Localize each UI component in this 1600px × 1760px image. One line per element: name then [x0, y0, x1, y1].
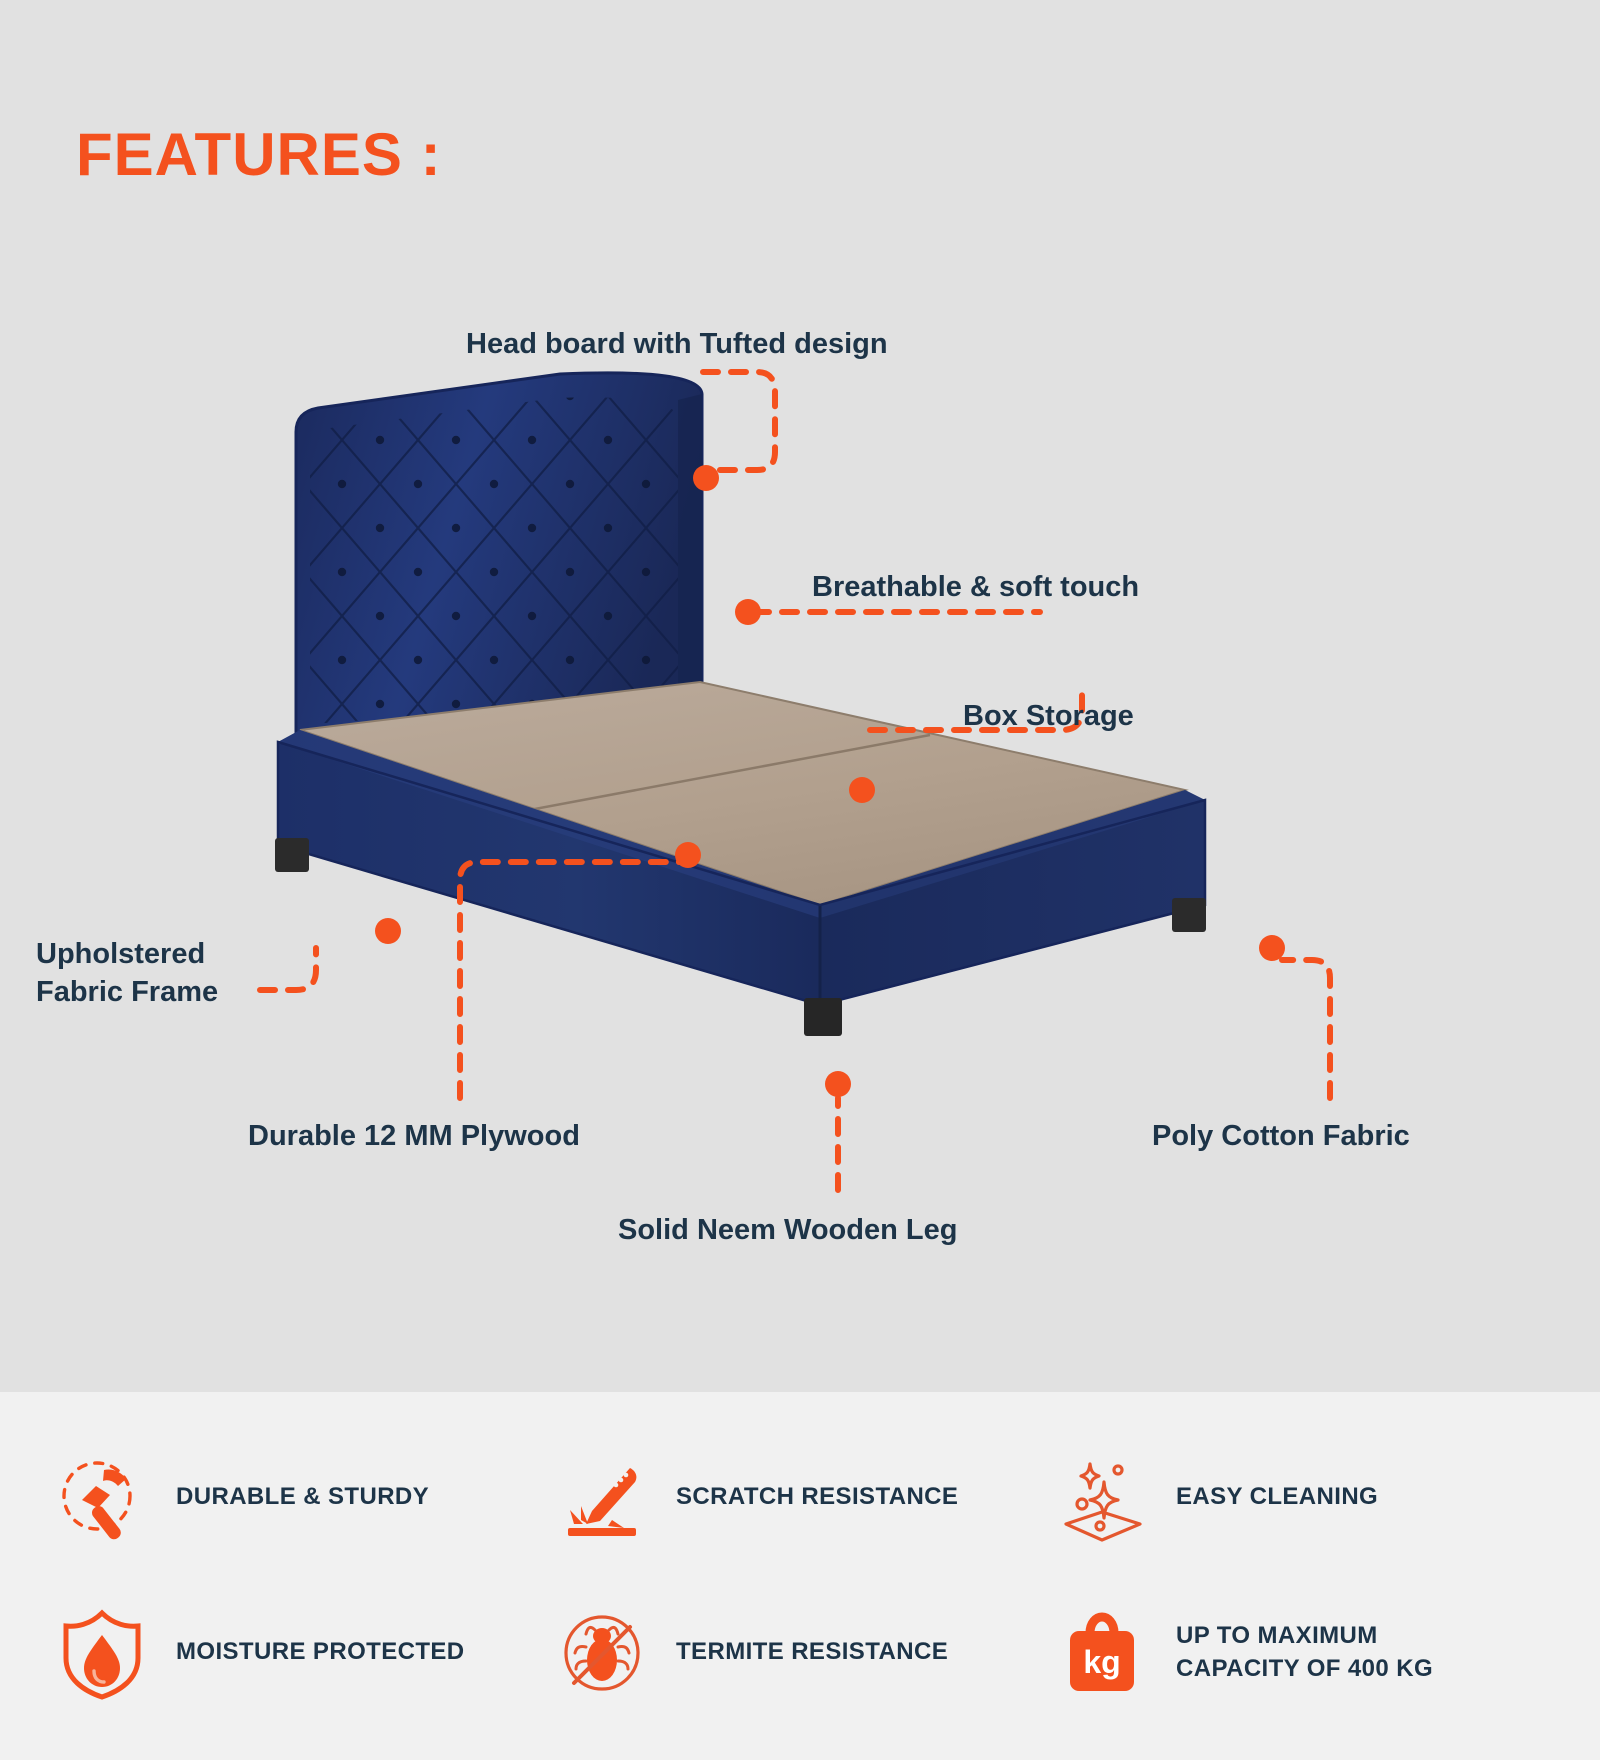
feature-label-moisture: MOISTURE PROTECTED — [176, 1636, 465, 1668]
callout-label-upholstery: Upholstered Fabric Frame — [36, 935, 218, 1012]
feature-item-durable: DURABLE & STURDY — [50, 1446, 550, 1550]
feature-strip: DURABLE & STURDY — [0, 1392, 1600, 1760]
kg-unit-text: kg — [1083, 1644, 1120, 1680]
shield-droplet-icon — [50, 1601, 154, 1705]
sparkle-surface-icon — [1050, 1446, 1154, 1550]
callout-label-headboard: Head board with Tufted design — [466, 325, 888, 363]
hero-panel: FEATURES : — [0, 0, 1600, 1392]
knife-scratch-icon — [550, 1446, 654, 1550]
feature-infographic: FEATURES : — [0, 0, 1600, 1760]
callout-label-poly-cotton: Poly Cotton Fabric — [1152, 1117, 1410, 1155]
callout-label-box-storage: Box Storage — [963, 697, 1134, 735]
feature-label-scratch: SCRATCH RESISTANCE — [676, 1481, 958, 1513]
feature-item-termite: TERMITE RESISTANCE — [550, 1601, 1050, 1705]
callout-dots — [375, 465, 1285, 1097]
callout-label-wooden-leg: Solid Neem Wooden Leg — [618, 1211, 957, 1249]
feature-label-cleaning: EASY CLEANING — [1176, 1481, 1378, 1513]
kg-weight-icon: kg — [1050, 1601, 1154, 1705]
feature-item-cleaning: EASY CLEANING — [1050, 1446, 1560, 1550]
callout-connectors — [0, 0, 1600, 1392]
feature-item-scratch: SCRATCH RESISTANCE — [550, 1446, 1050, 1550]
feature-item-capacity: kg UP TO MAXIMUM CAPACITY OF 400 KG — [1050, 1601, 1560, 1705]
callout-label-plywood: Durable 12 MM Plywood — [248, 1117, 580, 1155]
feature-label-durable: DURABLE & STURDY — [176, 1481, 429, 1513]
feature-label-capacity: UP TO MAXIMUM CAPACITY OF 400 KG — [1176, 1620, 1433, 1685]
no-bug-icon — [550, 1601, 654, 1705]
feature-item-moisture: MOISTURE PROTECTED — [50, 1601, 550, 1705]
feature-label-termite: TERMITE RESISTANCE — [676, 1636, 948, 1668]
hammer-icon — [50, 1446, 154, 1550]
callout-label-breathable: Breathable & soft touch — [812, 568, 1139, 606]
